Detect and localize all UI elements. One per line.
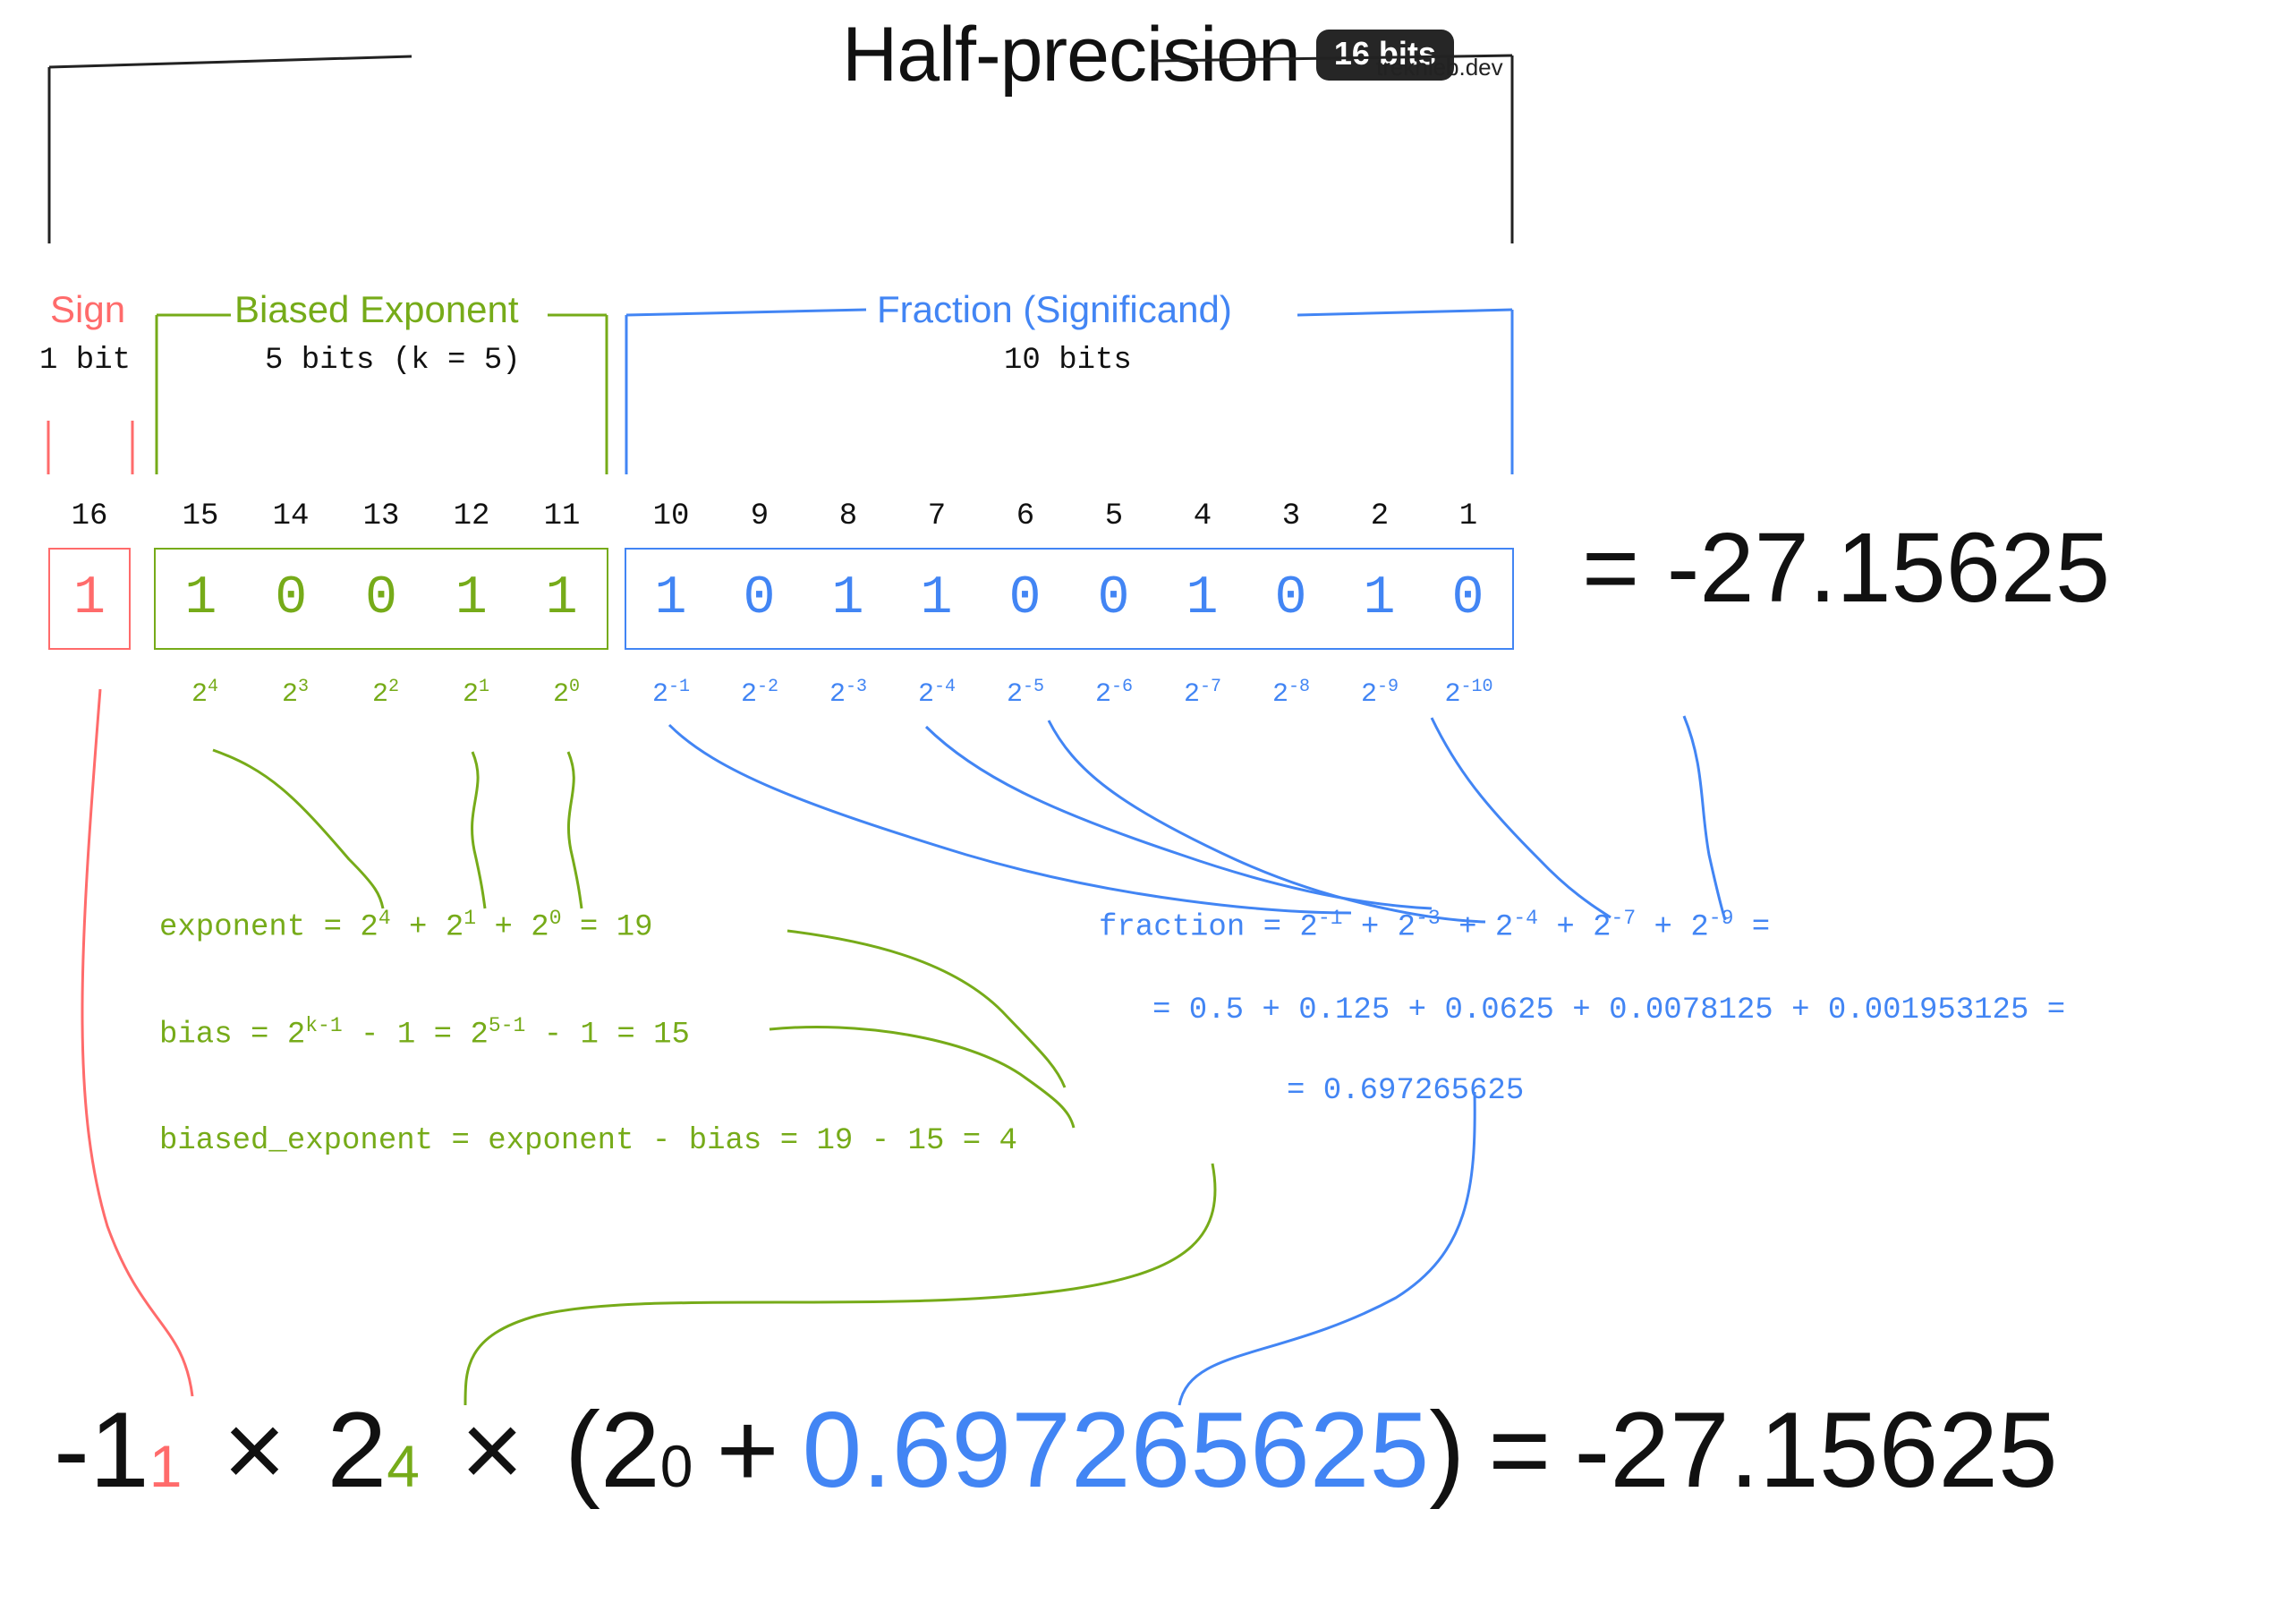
- power-base: 2: [918, 679, 934, 710]
- formula-part: exponent = 2: [159, 910, 378, 944]
- section-subtitle-fraction: 10 bits: [1004, 345, 1132, 376]
- diagram-title: Half-precision 16 bits: [0, 16, 2296, 93]
- power-base: 2: [1184, 679, 1200, 710]
- fraction-bit-cell[interactable]: 1: [1335, 550, 1424, 648]
- fraction-formula: fraction = 2-1 + 2-3 + 2-4 + 2-7 + 2-9 =: [1099, 908, 1770, 942]
- bit-index-10: 10: [635, 501, 707, 532]
- final-times-2: ×: [461, 1396, 523, 1504]
- power-exponent: 2: [388, 677, 399, 697]
- exponent-power-label: 22: [345, 678, 426, 708]
- final-equation: -11 × 24 × (20 + 0.697265625) = -27.1562…: [54, 1396, 2273, 1504]
- formula-part: =: [1733, 910, 1770, 944]
- bit-index-5: 5: [1078, 501, 1150, 532]
- power-base: 2: [741, 679, 757, 710]
- formula-sup: -1: [1318, 907, 1343, 930]
- power-exponent: 0: [569, 677, 580, 697]
- exponent-formula-connectors: [465, 931, 1215, 1405]
- fraction-power-label: 2-8: [1251, 678, 1331, 708]
- power-base: 2: [191, 679, 208, 710]
- formula-part: + 2: [1342, 910, 1416, 944]
- fraction-bit-cell[interactable]: 0: [715, 550, 804, 648]
- section-title-fraction: Fraction (Significand): [877, 291, 1232, 328]
- fraction-bit-cell[interactable]: 1: [892, 550, 981, 648]
- decoded-value-result: = -27.15625: [1582, 519, 2110, 618]
- diagram-canvas: Half-precision 16 bits trekhleb.dev: [0, 0, 2296, 1620]
- exponent-bit-cell[interactable]: 1: [426, 550, 516, 648]
- power-exponent: -4: [934, 677, 956, 697]
- bit-index-13: 13: [345, 501, 417, 532]
- final-implicit-exponent: 0: [660, 1437, 693, 1496]
- exponent-power-label: 21: [436, 678, 516, 708]
- bit-index-11: 11: [526, 501, 598, 532]
- power-base: 2: [463, 679, 479, 710]
- power-exponent: -9: [1377, 677, 1399, 697]
- formula-sup: k-1: [305, 1014, 342, 1037]
- final-equals: =: [1488, 1396, 1551, 1504]
- formula-sup: 0: [549, 907, 562, 930]
- fraction-bit-cell[interactable]: 1: [1158, 550, 1246, 648]
- connector-overlay: [0, 0, 2296, 1620]
- formula-sup: -7: [1611, 907, 1637, 930]
- fraction-power-label: 2-7: [1162, 678, 1243, 708]
- exponent-formula: exponent = 24 + 21 + 20 = 19: [159, 908, 653, 942]
- formula-part: - 1 = 2: [343, 1018, 489, 1052]
- power-base: 2: [372, 679, 388, 710]
- formula-sup: 4: [378, 907, 391, 930]
- power-base: 2: [1272, 679, 1288, 710]
- bit-index-9: 9: [724, 501, 795, 532]
- fraction-power-label: 2-1: [631, 678, 711, 708]
- fraction-power-label: 2-6: [1074, 678, 1154, 708]
- fraction-power-label: 2-10: [1426, 678, 1511, 708]
- power-base: 2: [652, 679, 668, 710]
- final-close-paren: ): [1429, 1396, 1465, 1504]
- formula-part: fraction = 2: [1099, 910, 1318, 944]
- power-base: 2: [1007, 679, 1023, 710]
- power-base: 2: [1361, 679, 1377, 710]
- final-exponent-value: 4: [387, 1437, 420, 1496]
- power-exponent: 3: [298, 677, 309, 697]
- bit-index-3: 3: [1255, 501, 1327, 532]
- exponent-bracket: [157, 315, 607, 474]
- fraction-total-line: = 0.697265625: [1287, 1076, 1524, 1106]
- final-open-paren: (2: [565, 1396, 660, 1504]
- final-result: -27.15625: [1574, 1396, 2057, 1504]
- exponent-bit-cell[interactable]: 0: [336, 550, 427, 648]
- final-plus: +: [716, 1396, 778, 1504]
- power-exponent: -8: [1288, 677, 1310, 697]
- power-exponent: -7: [1200, 677, 1221, 697]
- formula-sup: -4: [1513, 907, 1538, 930]
- formula-sup: 1: [463, 907, 476, 930]
- final-base: -1: [54, 1396, 149, 1504]
- formula-sup: -9: [1709, 907, 1734, 930]
- power-exponent: -3: [846, 677, 867, 697]
- formula-part: - 1 = 15: [525, 1018, 690, 1052]
- title-text: Half-precision: [842, 16, 1300, 93]
- bit-index-1: 1: [1433, 501, 1504, 532]
- power-base: 2: [1444, 679, 1460, 710]
- formula-part: bias = 2: [159, 1018, 305, 1052]
- biased-exponent-formula: biased_exponent = exponent - bias = 19 -…: [159, 1126, 1017, 1156]
- formula-part: + 2: [1441, 910, 1514, 944]
- fraction-bit-cell[interactable]: 0: [1069, 550, 1158, 648]
- final-two: 2: [327, 1396, 387, 1504]
- power-base: 2: [1095, 679, 1111, 710]
- fraction-connectors: [669, 716, 1725, 922]
- exponent-bit-cell[interactable]: 1: [156, 550, 246, 648]
- formula-part: + 2: [1636, 910, 1709, 944]
- power-exponent: -1: [668, 677, 690, 697]
- fraction-bit-cell[interactable]: 0: [981, 550, 1069, 648]
- fraction-bit-cell[interactable]: 1: [626, 550, 715, 648]
- formula-sup: 5-1: [489, 1014, 525, 1037]
- exponent-power-label: 24: [165, 678, 245, 708]
- bias-formula: bias = 2k-1 - 1 = 25-1 - 1 = 15: [159, 1016, 690, 1050]
- bit-index-14: 14: [255, 501, 327, 532]
- section-subtitle-exponent: 5 bits (k = 5): [265, 345, 521, 376]
- bit-index-7: 7: [901, 501, 973, 532]
- formula-sup: -3: [1416, 907, 1441, 930]
- power-base: 2: [829, 679, 846, 710]
- fraction-bit-cell[interactable]: 1: [804, 550, 892, 648]
- sign-bracket: [48, 421, 132, 474]
- power-exponent: 4: [208, 677, 218, 697]
- formula-part: = 19: [562, 910, 653, 944]
- fraction-power-label: 2-9: [1339, 678, 1420, 708]
- final-fraction-value: 0.697265625: [803, 1396, 1430, 1504]
- bit-index-4: 4: [1167, 501, 1238, 532]
- power-exponent: 1: [479, 677, 489, 697]
- power-exponent: -6: [1111, 677, 1133, 697]
- sign-bit-cell[interactable]: 1: [50, 550, 129, 648]
- bit-index-2: 2: [1344, 501, 1416, 532]
- fraction-total-connector: [1179, 1092, 1475, 1405]
- power-exponent: -10: [1461, 677, 1493, 697]
- exponent-power-label: 23: [255, 678, 336, 708]
- power-exponent: -2: [757, 677, 778, 697]
- bit-index-12: 12: [436, 501, 507, 532]
- exponent-connectors: [213, 750, 582, 908]
- formula-part: + 2: [476, 910, 549, 944]
- bit-index-15: 15: [165, 501, 236, 532]
- exponent-power-label: 20: [526, 678, 607, 708]
- fraction-power-label: 2-2: [719, 678, 800, 708]
- section-title-exponent: Biased Exponent: [234, 291, 519, 328]
- exponent-bit-cell[interactable]: 0: [246, 550, 336, 648]
- power-base: 2: [553, 679, 569, 710]
- final-sign-exponent: 1: [149, 1437, 183, 1496]
- section-title-sign: Sign: [50, 291, 125, 328]
- final-times-1: ×: [223, 1396, 285, 1504]
- fraction-bit-cell[interactable]: 0: [1424, 550, 1512, 648]
- formula-part: + 2: [391, 910, 464, 944]
- watermark: trekhleb.dev: [1376, 54, 1503, 81]
- fraction-power-label: 2-3: [808, 678, 889, 708]
- fraction-power-label: 2-5: [985, 678, 1066, 708]
- power-exponent: -5: [1023, 677, 1044, 697]
- fraction-sum-line: = 0.5 + 0.125 + 0.0625 + 0.0078125 + 0.0…: [1152, 995, 2065, 1026]
- exponent-bit-cell[interactable]: 1: [516, 550, 607, 648]
- fraction-power-label: 2-4: [897, 678, 977, 708]
- formula-part: + 2: [1538, 910, 1611, 944]
- bit-index-16: 16: [54, 501, 125, 532]
- fraction-bit-cell[interactable]: 0: [1246, 550, 1335, 648]
- power-base: 2: [282, 679, 298, 710]
- section-subtitle-sign: 1 bit: [39, 345, 131, 376]
- bit-index-8: 8: [812, 501, 884, 532]
- fraction-bracket: [626, 310, 1512, 474]
- bit-index-6: 6: [990, 501, 1061, 532]
